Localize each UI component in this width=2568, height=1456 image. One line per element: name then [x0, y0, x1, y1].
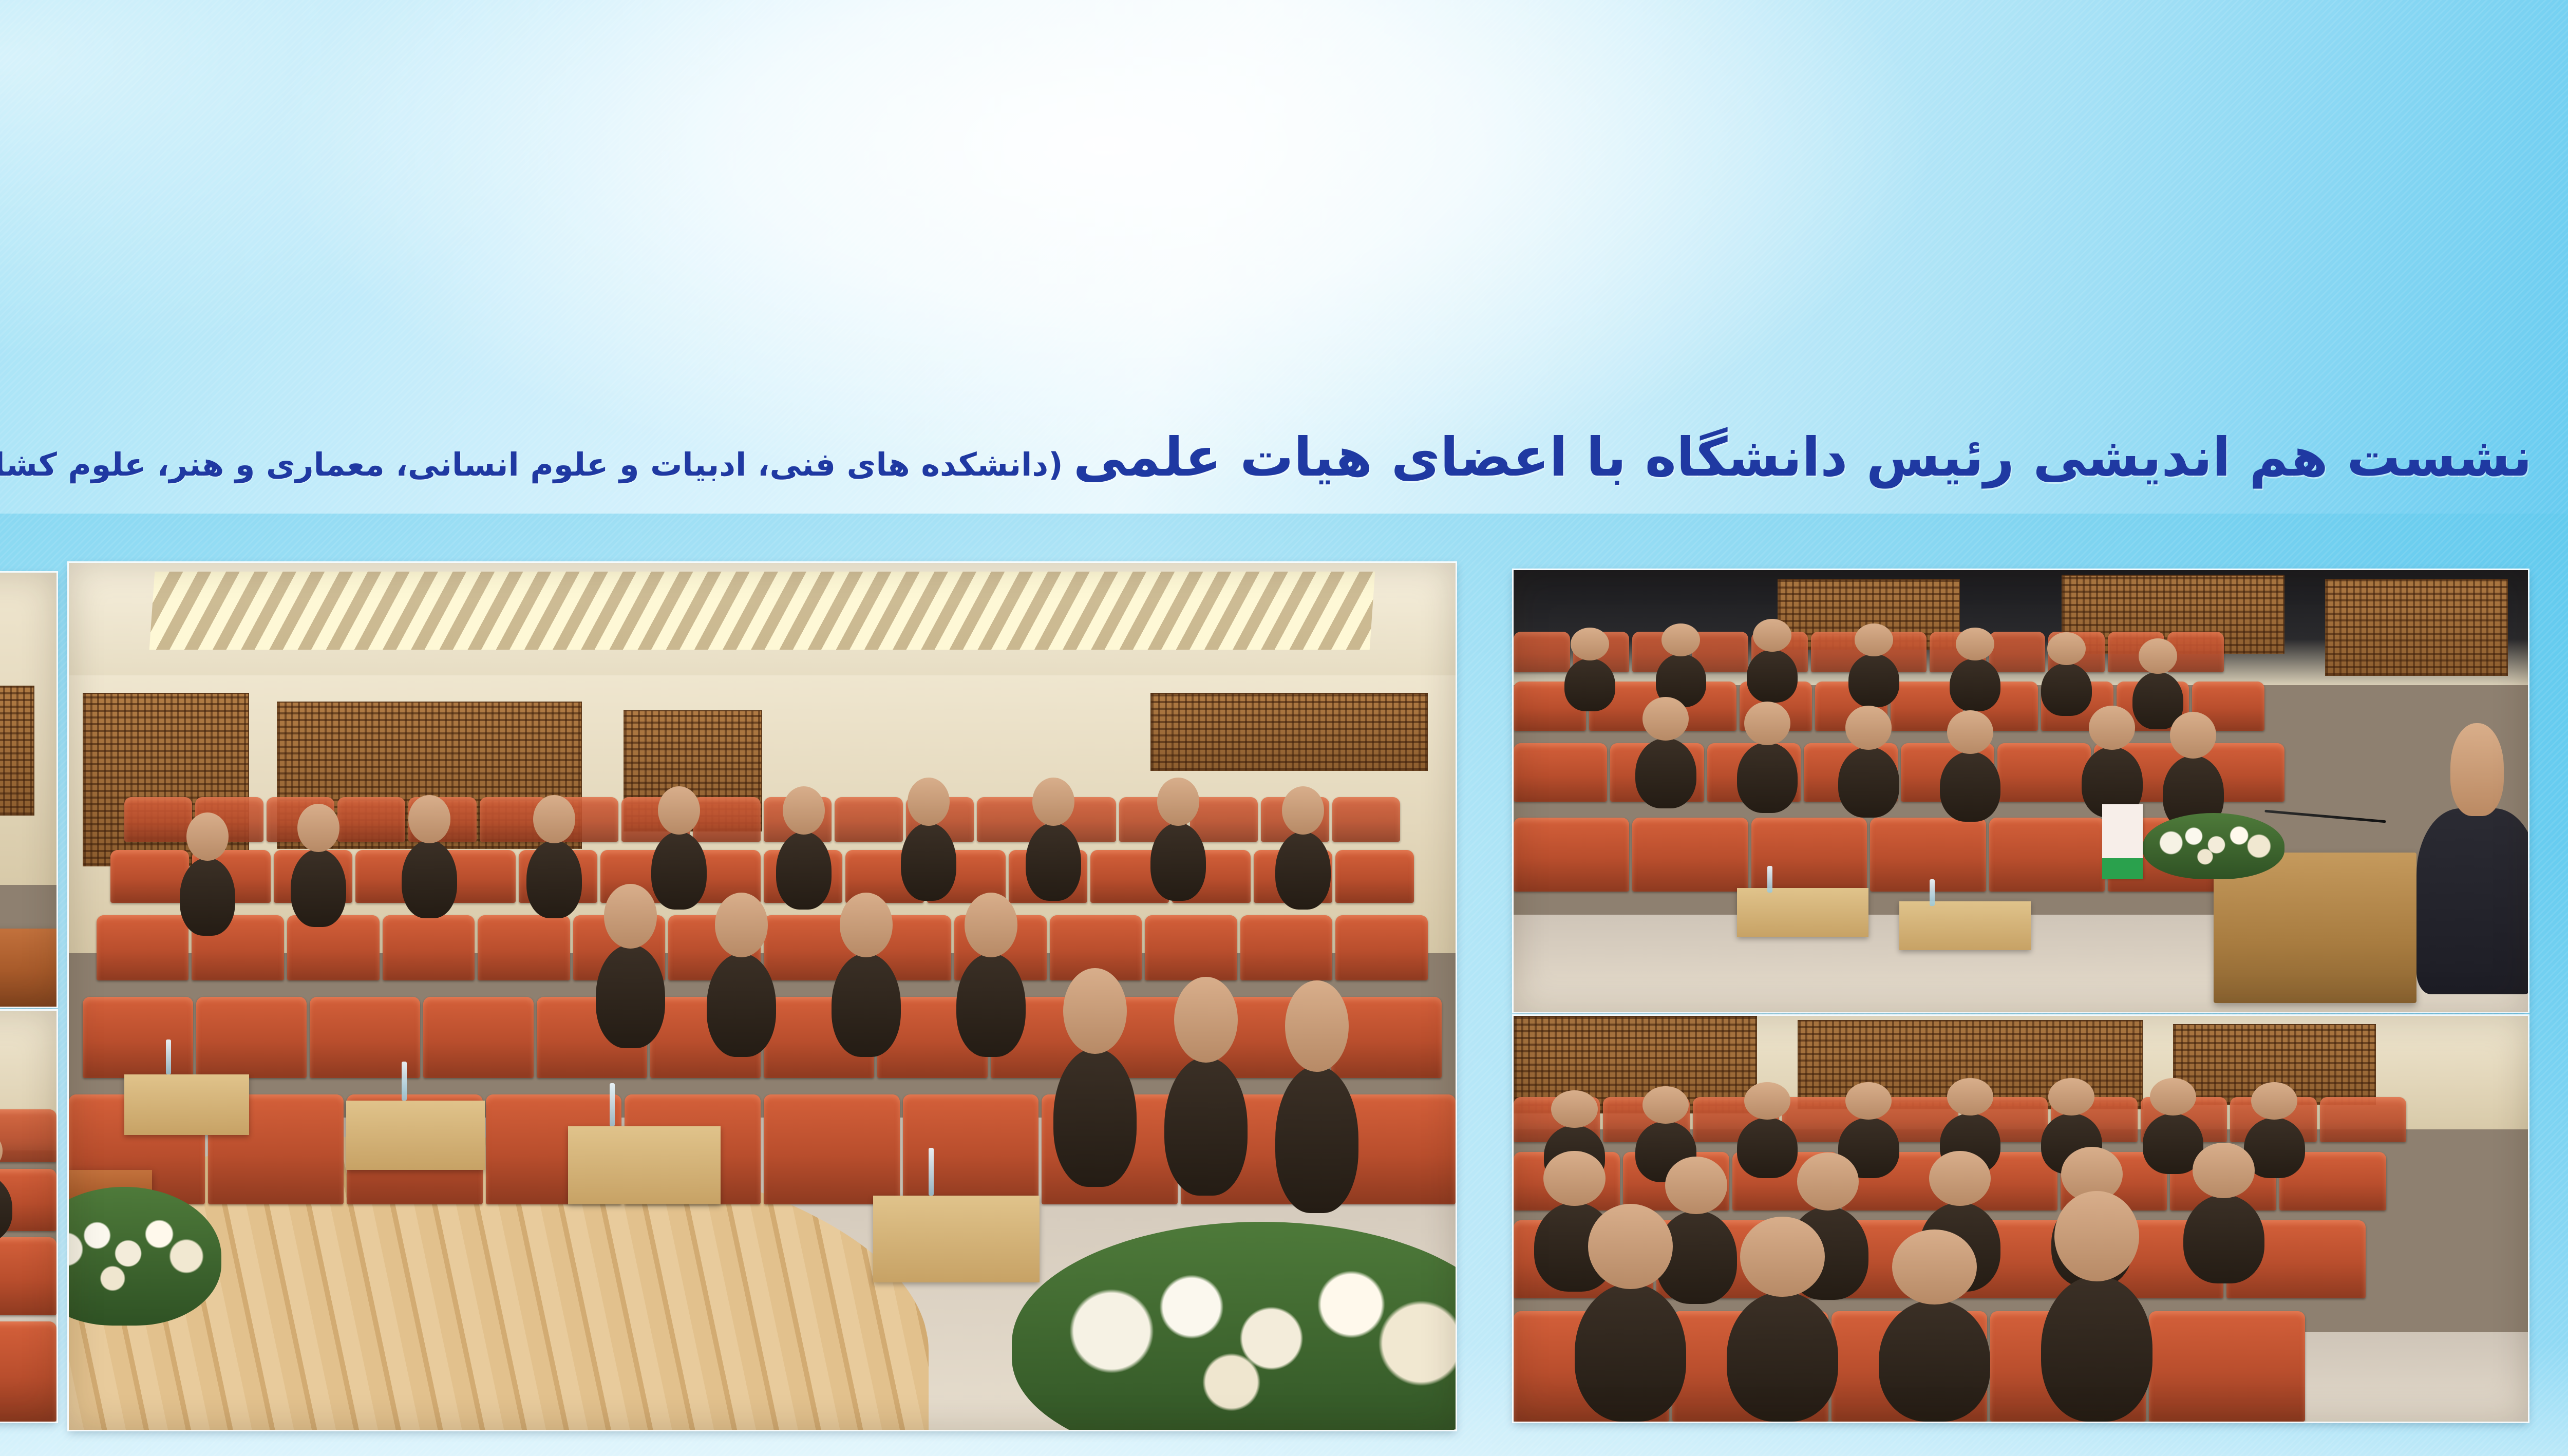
water-bottle	[402, 1062, 407, 1101]
seat-row	[69, 1094, 1456, 1204]
news-banner: دانشگاه گیلان روابط عمومی دانشگاه گیلان …	[0, 0, 2568, 1456]
headline-main-title: نشست هم اندیشی رئیس دانشگاه با اعضای هیا…	[1073, 430, 2532, 484]
university-table-flag	[2102, 804, 2143, 879]
photo-hall-view-toward-podium	[1514, 570, 2528, 1012]
side-table	[346, 1101, 485, 1170]
attendee	[402, 840, 457, 918]
photo-audience-left-section	[0, 1011, 56, 1422]
attendee-front-row	[1879, 1300, 1990, 1422]
attendee	[956, 953, 1026, 1057]
seat-row	[0, 1321, 56, 1422]
attendee	[1053, 1048, 1137, 1187]
side-table	[124, 1074, 249, 1135]
attendee	[2041, 663, 2092, 716]
hall-right-scene	[1514, 570, 2528, 1012]
attendee	[1635, 738, 1696, 809]
attendee	[707, 953, 776, 1057]
photo-collage	[0, 0, 2568, 1456]
seat-row	[0, 1109, 56, 1162]
attendee-front-row	[1575, 1283, 1686, 1422]
head-table	[0, 929, 56, 1007]
attendee	[526, 840, 582, 918]
attendee	[1848, 654, 1899, 707]
side-table	[1899, 901, 2031, 950]
headline: نشست هم اندیشی رئیس دانشگاه با اعضای هیا…	[0, 430, 2532, 507]
ceiling-light-coffers	[149, 572, 1375, 650]
attendee	[1940, 751, 2001, 822]
photo-seated-faculty-rows	[1514, 1016, 2528, 1422]
attendee	[651, 831, 707, 910]
water-bottle	[929, 1148, 934, 1196]
side-table	[873, 1196, 1040, 1282]
photo-speaker-at-podium	[0, 573, 56, 1007]
attendee	[1150, 823, 1206, 901]
acoustic-wood-panel	[1150, 693, 1428, 771]
flower-arrangement	[2143, 813, 2285, 879]
attendee	[1950, 658, 2000, 711]
attendee	[1275, 1066, 1358, 1213]
headline-subtitle-faculties: (دانشکده های فنی، ادبیات و علوم انسانی، …	[0, 449, 1063, 481]
water-bottle	[1767, 866, 1772, 893]
water-bottle	[1930, 879, 1935, 906]
attendee	[776, 831, 832, 910]
side-table	[1737, 888, 1869, 937]
attendee-front-row	[2041, 1276, 2152, 1422]
attendee	[1737, 742, 1798, 813]
attendee	[1838, 747, 1899, 818]
attendee	[1747, 650, 1798, 703]
attendee	[596, 944, 665, 1049]
speaker-scene	[0, 573, 56, 1007]
faculty-rows-scene	[1514, 1016, 2528, 1422]
attendee-front-row	[1727, 1292, 1838, 1422]
seating-area	[0, 1109, 56, 1422]
water-bottle	[166, 1039, 171, 1074]
speaker-person	[2416, 808, 2528, 994]
side-table	[568, 1126, 721, 1204]
attendee	[1275, 831, 1331, 910]
attendee	[1737, 1118, 1798, 1179]
audience-left-scene	[0, 1011, 56, 1422]
attendee	[832, 953, 901, 1057]
attendee	[901, 823, 956, 901]
attendee	[1564, 658, 1615, 711]
attendee	[180, 858, 235, 936]
main-hall-scene	[69, 563, 1456, 1430]
water-bottle	[610, 1083, 615, 1126]
attendee	[1164, 1057, 1248, 1196]
attendee	[1026, 823, 1081, 901]
seat-row	[0, 1237, 56, 1315]
attendee	[291, 849, 346, 927]
photo-main-hall-wide-view	[69, 563, 1456, 1430]
attendee	[2183, 1195, 2264, 1284]
acoustic-wood-panel	[0, 686, 34, 816]
